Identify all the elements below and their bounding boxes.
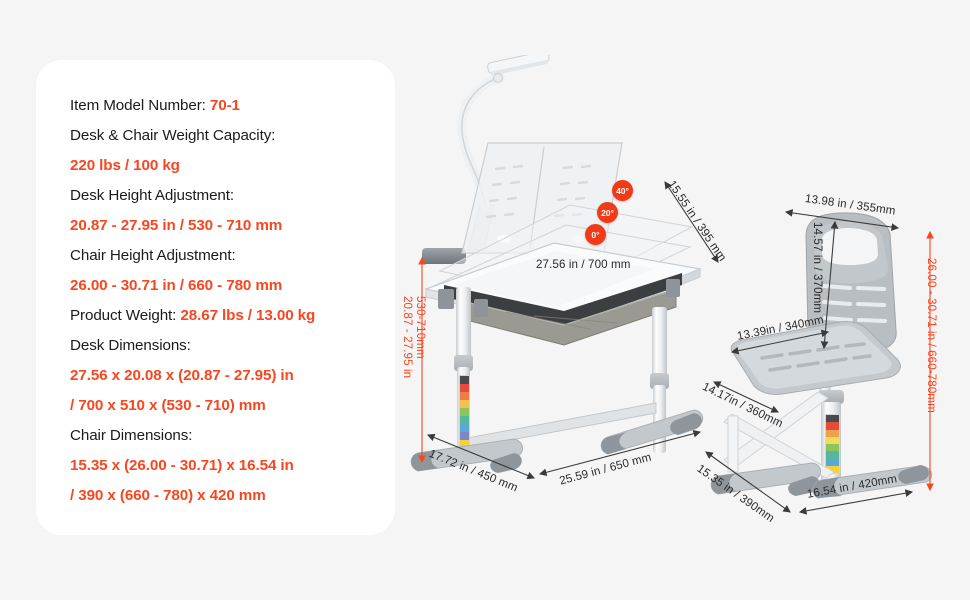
chair-back-height-label: 14.57 in / 370mm (811, 222, 824, 313)
spec-line-product-weight: Product Weight: 28.67 lbs / 13.00 kg (70, 301, 385, 331)
spec-line-model: Item Model Number: 70-1 (70, 91, 385, 121)
specification-list: Item Model Number: 70-1 Desk & Chair Wei… (70, 91, 385, 511)
spec-label-product-weight: Product Weight: (70, 307, 180, 324)
desk-foot-left (404, 433, 554, 491)
specification-card: Item Model Number: 70-1 Desk & Chair Wei… (36, 60, 395, 535)
tilt-badge-40: 40° (612, 180, 633, 201)
chair-total-height-label: 26.00 - 30.71 in / 660-780mm (925, 258, 938, 413)
spec-line-desk-dimensions-in: 27.56 x 20.08 x (20.87 - 27.95) in (70, 361, 385, 391)
spec-line-desk-height-value: 20.87 - 27.95 in / 530 - 710 mm (70, 211, 385, 241)
desk-width-label: 27.56 in / 700 mm (536, 258, 631, 271)
spec-line-desk-dimensions-label: Desk Dimensions: (70, 331, 385, 361)
tilt-badge-0: 0° (585, 224, 606, 245)
spec-value-model: 70-1 (210, 97, 240, 114)
spec-line-weight-capacity-label: Desk & Chair Weight Capacity: (70, 121, 385, 151)
spec-line-chair-dimensions-in: 15.35 x (26.00 - 30.71) x 16.54 in (70, 451, 385, 481)
product-spec-image: Item Model Number: 70-1 Desk & Chair Wei… (0, 0, 970, 600)
spec-line-desk-dimensions-mm: / 700 x 510 x (530 - 710) mm (70, 391, 385, 421)
spec-line-weight-capacity-value: 220 lbs / 100 kg (70, 151, 385, 181)
spec-value-product-weight: 28.67 lbs / 13.00 kg (180, 307, 315, 324)
spec-label-model: Item Model Number: (70, 97, 210, 114)
desk-height-label-in: 20.87 - 27.95 in (401, 296, 414, 378)
spec-line-chair-dimensions-label: Chair Dimensions: (70, 421, 385, 451)
desk-height-label-mm: 530-710mm (414, 296, 427, 359)
chair-illustration (700, 190, 950, 500)
spec-line-chair-height-label: Chair Height Adjustment: (70, 241, 385, 271)
tilt-badge-20: 20° (597, 202, 618, 223)
spec-line-desk-height-label: Desk Height Adjustment: (70, 181, 385, 211)
spec-line-chair-dimensions-mm: / 390 x (660 - 780) x 420 mm (70, 481, 385, 511)
spec-line-chair-height-value: 26.00 - 30.71 in / 660 - 780 mm (70, 271, 385, 301)
